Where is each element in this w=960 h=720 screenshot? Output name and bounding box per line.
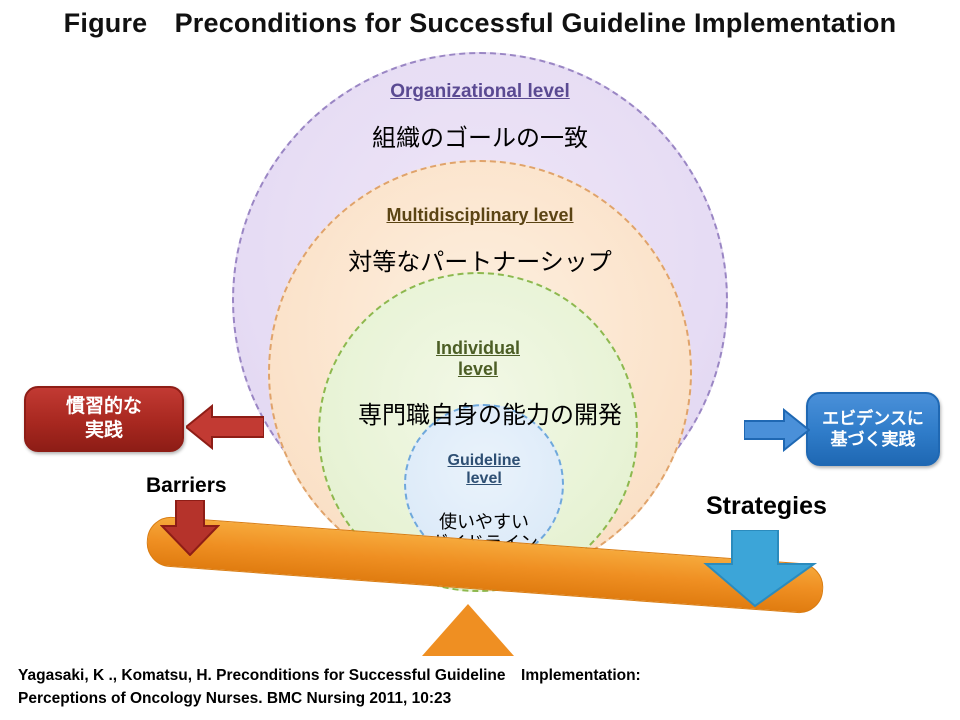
box-customary-practice: 慣習的な 実践: [24, 386, 184, 452]
right-horizontal-arrow: [744, 408, 810, 452]
strategies-down-arrow: [702, 530, 822, 608]
label-barriers: Barriers: [146, 474, 227, 498]
seesaw-fulcrum: [422, 604, 514, 656]
barriers-down-arrow: [160, 500, 220, 556]
label-individual-jp: 専門職自身の能力の開発: [358, 401, 598, 430]
label-organizational-level: Organizational level 組織のゴールの一致: [312, 60, 648, 173]
label-organizational-en: Organizational level: [312, 80, 648, 103]
label-individual-en: Individual level: [358, 338, 598, 380]
label-multidisciplinary-en: Multidisciplinary level: [330, 205, 630, 227]
label-multidisciplinary-jp: 対等なパートナーシップ: [330, 248, 630, 277]
label-strategies: Strategies: [706, 492, 827, 521]
label-multidisciplinary-level: Multidisciplinary level 対等なパートナーシップ: [330, 185, 630, 297]
label-guideline-en: Guideline level: [410, 452, 558, 490]
box-evidence-based-practice: エビデンスに 基づく実践: [806, 392, 940, 466]
figure-canvas: Figure Preconditions for Successful Guid…: [0, 0, 960, 720]
citation-text: Yagasaki, K ., Komatsu, H. Preconditions…: [18, 664, 948, 711]
left-horizontal-arrow: [186, 404, 264, 450]
figure-title: Figure Preconditions for Successful Guid…: [0, 8, 960, 39]
label-individual-level: Individual level 専門職自身の能力の開発: [358, 318, 598, 449]
label-organizational-jp: 組織のゴールの一致: [312, 124, 648, 153]
